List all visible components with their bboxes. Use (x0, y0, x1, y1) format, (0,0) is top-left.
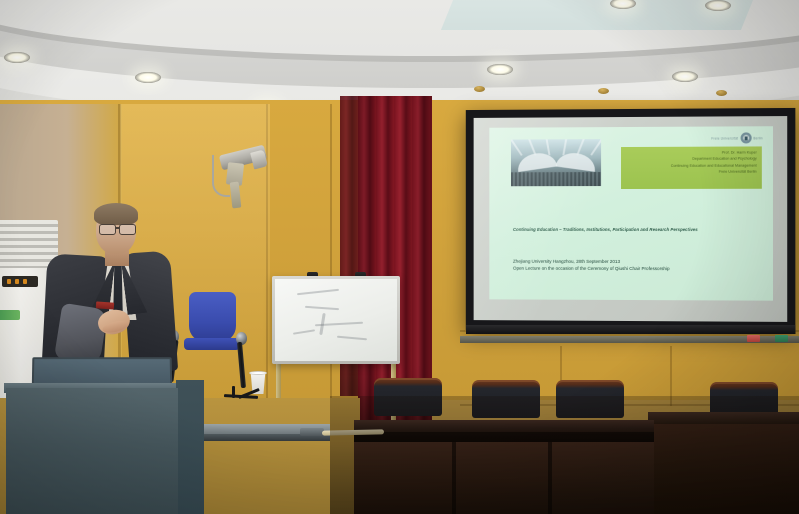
pointer-grip[interactable] (300, 428, 324, 436)
slide-subtitle: Zhejiang University Hangzhou, 28th Septe… (513, 258, 763, 273)
photo-detail (590, 139, 601, 156)
downlight-1 (4, 52, 30, 63)
lectern-side-panel (176, 380, 204, 514)
lectern (6, 388, 178, 514)
lecture-hall-photo: Freie Universität Berlin Prof. Dr. Harm … (0, 0, 799, 514)
projection-screen: Freie Universität Berlin Prof. Dr. Harm … (466, 108, 796, 332)
whiteboard-marking (293, 329, 315, 334)
photo-crowd (511, 172, 601, 186)
ac-display-panel (2, 276, 38, 287)
blue-chair-back[interactable] (189, 292, 236, 342)
chair-back-2[interactable] (472, 380, 540, 422)
whiteboard-marking (297, 289, 339, 295)
whiteboard[interactable] (272, 276, 400, 364)
marker-green[interactable] (775, 335, 788, 342)
chair-backrest (556, 380, 624, 418)
downlight-7 (705, 0, 731, 11)
slide-title: Continuing Education – Traditions, Insti… (513, 227, 763, 233)
whiteboard-surface[interactable] (275, 279, 397, 361)
chair-back-1[interactable] (374, 378, 442, 420)
chair-back-3[interactable] (556, 380, 624, 422)
sprinkler-head-3 (716, 90, 727, 96)
photo-detail (511, 139, 523, 156)
eyeglasses-left-lens (99, 224, 116, 235)
table-right-front (648, 424, 799, 514)
ac-indicator-2 (15, 279, 19, 284)
ac-brand-logo (0, 310, 20, 320)
table-panel-divider-1 (452, 442, 456, 514)
downlight-5 (672, 71, 698, 82)
marker-red[interactable] (747, 335, 760, 342)
screen-surface: Freie Universität Berlin Prof. Dr. Harm … (474, 116, 788, 322)
logo-text-right: Berlin (753, 136, 762, 140)
jacket-sleeve (54, 303, 108, 366)
ac-indicator-1 (7, 279, 11, 284)
chair-backrest (472, 380, 540, 418)
slide-subtitle-line-2: Open Lecture on the occasion of the Cere… (513, 265, 763, 273)
slide-campus-photo (511, 139, 601, 186)
author-institution: Freie Universität Berlin (621, 169, 757, 176)
sprinkler-head-2 (598, 88, 609, 94)
paper-cup-rim (249, 371, 267, 375)
sprinkler-head-1 (474, 86, 485, 92)
whiteboard-marking (337, 336, 367, 341)
chair-backrest (374, 378, 442, 416)
table-panel-divider-2 (548, 442, 552, 514)
eyeglasses-bridge (115, 227, 120, 229)
fu-berlin-seal-icon (740, 132, 751, 143)
downlight-2 (135, 72, 161, 83)
whiteboard-marking (305, 306, 339, 310)
hair (94, 203, 138, 225)
screen-bottom-bar (466, 325, 796, 334)
wall-seam-6 (670, 346, 672, 406)
slide-author-box: Prof. Dr. Harm Kuper Department Educatio… (621, 146, 762, 189)
downlight-4 (487, 64, 513, 75)
presentation-slide: Freie Universität Berlin Prof. Dr. Harm … (489, 126, 773, 300)
logo-text-left: Freie Universität (711, 136, 738, 140)
fu-berlin-logo: Freie Universität Berlin (711, 132, 763, 143)
blue-chair-seat[interactable] (184, 338, 240, 350)
conference-table-front (354, 442, 654, 514)
eyeglasses-right-lens (119, 224, 136, 235)
ac-indicator-3 (23, 279, 27, 284)
mic-tripod-column (232, 386, 235, 398)
